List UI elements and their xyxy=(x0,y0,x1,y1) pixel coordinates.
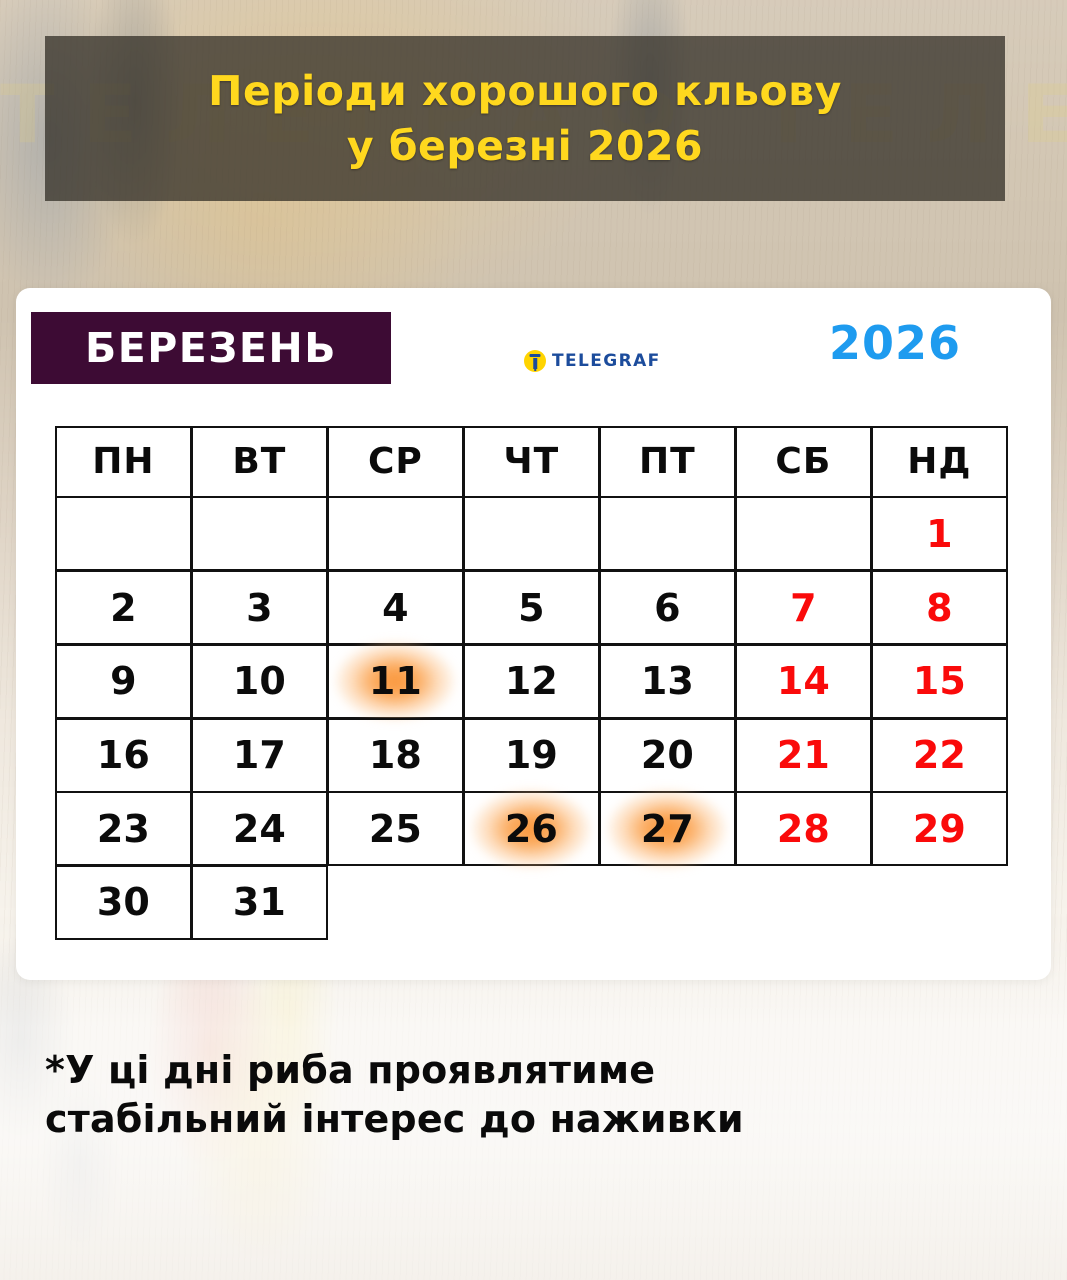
weekday-header: ВТ xyxy=(191,426,328,498)
day-cell[interactable]: 27 xyxy=(599,791,736,866)
day-number: 19 xyxy=(505,733,558,777)
day-cell[interactable]: 28 xyxy=(735,791,872,866)
day-cell[interactable]: 8 xyxy=(871,570,1008,645)
day-number: 8 xyxy=(926,586,952,630)
footnote-text: *У ці дні риба проявлятиме стабільний ін… xyxy=(45,1046,1005,1143)
day-cell xyxy=(599,496,736,571)
day-number: 7 xyxy=(790,586,816,630)
day-number: 16 xyxy=(97,733,150,777)
month-badge: БЕРЕЗЕНЬ xyxy=(31,312,391,384)
day-cell-blank xyxy=(600,866,736,941)
day-cell[interactable]: 10 xyxy=(191,644,328,719)
title-banner: Періоди хорошого кльову у березні 2026 xyxy=(45,36,1005,201)
day-number: 18 xyxy=(369,733,422,777)
poster-title: Періоди хорошого кльову у березні 2026 xyxy=(208,64,842,172)
day-number: 25 xyxy=(369,807,422,851)
day-number: 1 xyxy=(926,512,952,556)
day-number: 4 xyxy=(382,586,408,630)
calendar-grid: ПНВТСРЧТПТСБНД12345678910111213141516171… xyxy=(56,427,1008,941)
day-cell[interactable]: 29 xyxy=(871,791,1008,866)
day-cell[interactable]: 5 xyxy=(463,570,600,645)
weekday-header: ПН xyxy=(55,426,192,498)
weekday-header: ПТ xyxy=(599,426,736,498)
day-cell xyxy=(463,496,600,571)
weekday-header: СР xyxy=(327,426,464,498)
day-cell xyxy=(191,496,328,571)
day-number: 9 xyxy=(110,659,136,703)
day-cell-blank xyxy=(464,866,600,941)
day-cell[interactable]: 2 xyxy=(55,570,192,645)
day-cell[interactable]: 13 xyxy=(599,644,736,719)
day-number: 6 xyxy=(654,586,680,630)
weekday-header: СБ xyxy=(735,426,872,498)
day-cell[interactable]: 20 xyxy=(599,718,736,793)
day-cell[interactable]: 23 xyxy=(55,791,192,866)
day-number: 30 xyxy=(97,880,150,924)
day-number: 23 xyxy=(97,807,150,851)
day-number: 24 xyxy=(233,807,286,851)
day-number: 27 xyxy=(641,807,694,851)
poster-root: ТЕЛЕГРАФ ТЕЛЕГРАФ Періоди хорошого кльов… xyxy=(0,0,1067,1280)
day-cell[interactable]: 31 xyxy=(191,865,328,940)
day-cell[interactable]: 30 xyxy=(55,865,192,940)
day-cell xyxy=(55,496,192,571)
day-number: 12 xyxy=(505,659,558,703)
day-cell[interactable]: 18 xyxy=(327,718,464,793)
calendar-card: БЕРЕЗЕНЬ TELEGRAF 2026 ПНВТСРЧТПТСБНД123… xyxy=(16,288,1051,980)
day-number: 10 xyxy=(233,659,286,703)
day-cell[interactable]: 12 xyxy=(463,644,600,719)
day-number: 15 xyxy=(913,659,966,703)
weekday-header: НД xyxy=(871,426,1008,498)
day-number: 11 xyxy=(369,659,422,703)
day-cell[interactable]: 14 xyxy=(735,644,872,719)
day-cell-blank xyxy=(328,866,464,941)
day-cell xyxy=(735,496,872,571)
year-label: 2026 xyxy=(829,316,961,370)
day-number: 29 xyxy=(913,807,966,851)
day-number: 13 xyxy=(641,659,694,703)
day-number: 14 xyxy=(777,659,830,703)
day-cell[interactable]: 6 xyxy=(599,570,736,645)
day-number: 31 xyxy=(233,880,286,924)
month-label: БЕРЕЗЕНЬ xyxy=(85,324,337,372)
day-cell[interactable]: 7 xyxy=(735,570,872,645)
day-cell[interactable]: 15 xyxy=(871,644,1008,719)
day-cell[interactable]: 9 xyxy=(55,644,192,719)
day-number: 5 xyxy=(518,586,544,630)
day-cell[interactable]: 19 xyxy=(463,718,600,793)
day-cell[interactable]: 11 xyxy=(327,644,464,719)
weekday-header: ЧТ xyxy=(463,426,600,498)
day-number: 3 xyxy=(246,586,272,630)
day-cell[interactable]: 24 xyxy=(191,791,328,866)
day-cell[interactable]: 1 xyxy=(871,496,1008,571)
day-cell[interactable]: 22 xyxy=(871,718,1008,793)
day-number: 22 xyxy=(913,733,966,777)
day-number: 17 xyxy=(233,733,286,777)
day-number: 20 xyxy=(641,733,694,777)
day-cell-blank xyxy=(872,866,1008,941)
day-cell[interactable]: 16 xyxy=(55,718,192,793)
day-number: 2 xyxy=(110,586,136,630)
day-cell-blank xyxy=(736,866,872,941)
day-number: 21 xyxy=(777,733,830,777)
day-number: 28 xyxy=(777,807,830,851)
day-cell[interactable]: 3 xyxy=(191,570,328,645)
telegraf-wordmark: TELEGRAF xyxy=(552,351,661,371)
day-cell[interactable]: 25 xyxy=(327,791,464,866)
day-cell[interactable]: 4 xyxy=(327,570,464,645)
telegraf-mark-icon xyxy=(524,350,546,372)
telegraf-logo: TELEGRAF xyxy=(524,350,661,372)
calendar-header: БЕРЕЗЕНЬ TELEGRAF 2026 xyxy=(16,288,1051,398)
day-cell[interactable]: 21 xyxy=(735,718,872,793)
day-number: 26 xyxy=(505,807,558,851)
day-cell xyxy=(327,496,464,571)
day-cell[interactable]: 17 xyxy=(191,718,328,793)
day-cell[interactable]: 26 xyxy=(463,791,600,866)
